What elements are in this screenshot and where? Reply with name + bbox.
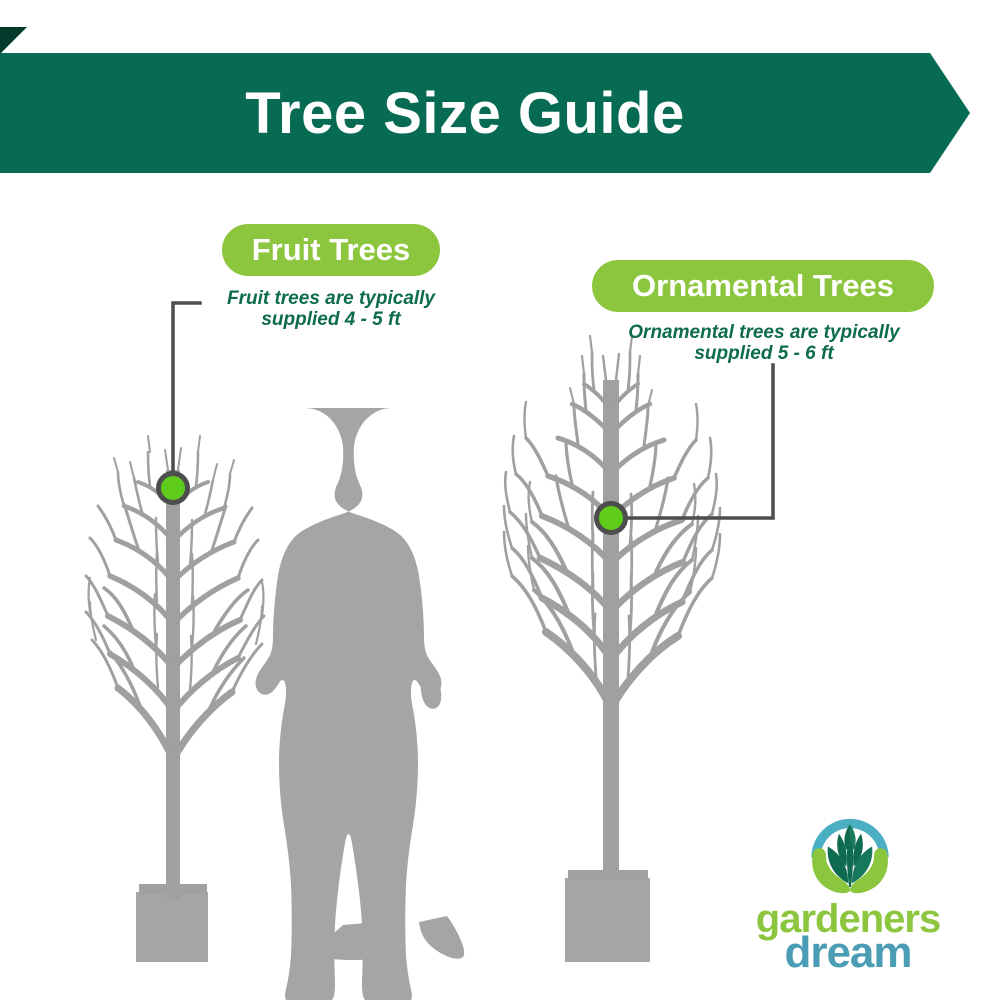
caption-ornamental-line-1: Ornamental trees are typically bbox=[628, 322, 899, 343]
badge-fruit-trees[interactable]: Fruit Trees bbox=[222, 224, 440, 276]
fruit-tree-figure bbox=[86, 436, 264, 962]
logo-wordmark: gardeners dream bbox=[752, 900, 944, 974]
caption-fruit-line-1: Fruit trees are typically bbox=[227, 288, 435, 309]
caption-ornamental-line-2: supplied 5 - 6 ft bbox=[694, 343, 833, 364]
ornamental-tree-trunk bbox=[603, 380, 619, 880]
plant-in-hands-logo-mark bbox=[804, 806, 896, 898]
fruit-tree-base bbox=[139, 884, 207, 894]
badge-ornamental-trees[interactable]: Ornamental Trees bbox=[592, 260, 934, 312]
ornamental-tree-base bbox=[568, 870, 648, 880]
fruit-tree-pot bbox=[136, 892, 208, 962]
ornamental-tree-pot bbox=[565, 878, 650, 962]
person-figure bbox=[256, 408, 465, 1000]
caption-fruit-trees: Fruit trees are typically supplied 4 - 5… bbox=[200, 288, 462, 331]
gardeners-dream-logo[interactable]: gardeners dream bbox=[752, 806, 944, 986]
caption-fruit-line-2: supplied 4 - 5 ft bbox=[261, 309, 400, 330]
person-right-shoe bbox=[419, 916, 464, 959]
caption-ornamental-trees: Ornamental trees are typically supplied … bbox=[600, 322, 928, 365]
ornamental-tree-figure bbox=[504, 336, 720, 962]
tree-size-guide-infographic: Tree Size Guide bbox=[0, 0, 1000, 1000]
